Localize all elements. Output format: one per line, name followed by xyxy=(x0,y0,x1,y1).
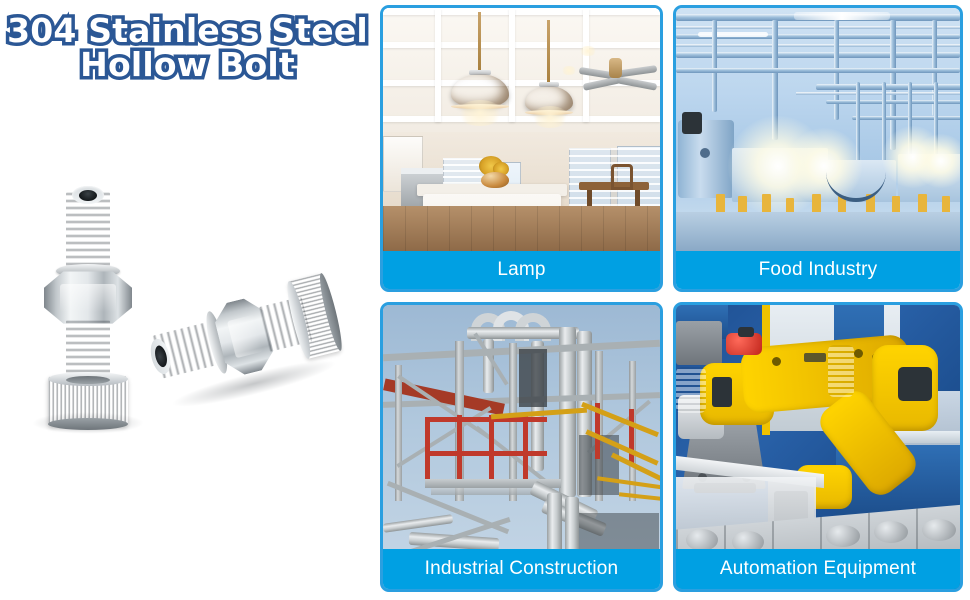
lamp-photo xyxy=(383,8,660,289)
industrial-construction-photo xyxy=(383,305,660,589)
application-card-industrial-construction[interactable]: Industrial Construction xyxy=(380,302,663,592)
caption-food-industry: Food Industry xyxy=(676,251,960,289)
product-title: 304 Stainless Steel Hollow Bolt xyxy=(0,14,375,83)
title-line-1: 304 Stainless Steel xyxy=(0,14,375,48)
hollow-bolt-diagonal xyxy=(134,249,352,431)
application-card-lamp[interactable]: Lamp xyxy=(380,5,663,292)
caption-industrial-construction: Industrial Construction xyxy=(383,549,660,589)
application-card-food-industry[interactable]: Food Industry xyxy=(673,5,963,292)
bolt-bore-hole xyxy=(79,190,97,201)
title-line-2: Hollow Bolt xyxy=(0,48,375,82)
bolt-hex-nut xyxy=(44,268,132,326)
caption-lamp: Lamp xyxy=(383,251,660,289)
application-grid: Lamp xyxy=(380,5,965,595)
food-industry-photo xyxy=(676,8,960,289)
caption-automation-equipment: Automation Equipment xyxy=(676,549,960,589)
product-panel: 304 Stainless Steel Hollow Bolt xyxy=(0,0,375,600)
hollow-bolt-upright xyxy=(28,180,148,440)
automation-equipment-photo xyxy=(676,305,960,589)
application-card-automation-equipment[interactable]: Automation Equipment xyxy=(673,302,963,592)
product-image xyxy=(0,170,375,490)
